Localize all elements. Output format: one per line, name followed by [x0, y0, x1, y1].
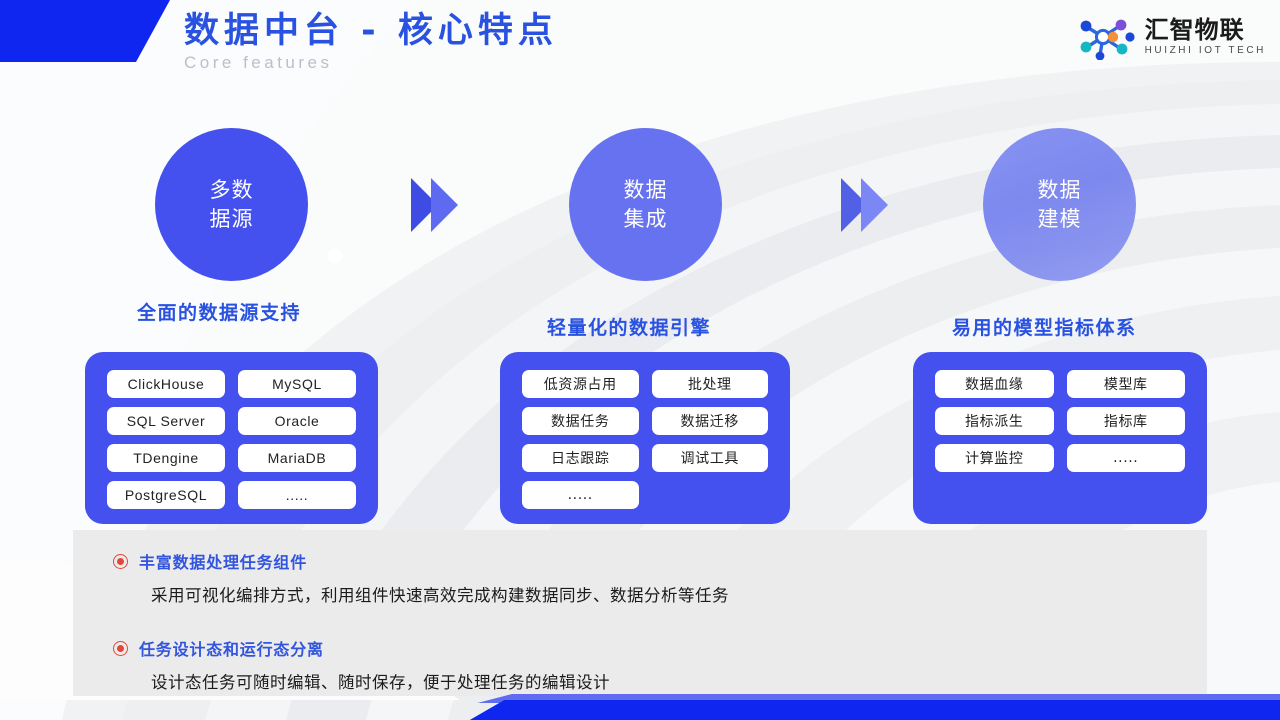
page-title: 数据中台 - 核心特点 Core features: [184, 9, 558, 74]
chip-item[interactable]: TDengine: [107, 444, 225, 472]
page-title-en: Core features: [184, 52, 558, 74]
stage-circle-data-modeling: 数据 建模: [983, 128, 1136, 281]
chip-item[interactable]: MySQL: [238, 370, 356, 398]
stage-label-engine: 轻量化的数据引擎: [547, 313, 711, 340]
stage-circle-line1: 多数: [210, 176, 254, 205]
stage-circle-data-integration: 数据 集成: [569, 128, 722, 281]
chip-item[interactable]: ClickHouse: [107, 370, 225, 398]
chevron-right-icon: [861, 178, 888, 232]
stage-circle-line2: 据源: [210, 205, 254, 234]
note-body: 采用可视化编排方式，利用组件快速高效完成构建数据同步、数据分析等任务: [73, 582, 1207, 606]
chip-item[interactable]: 数据任务: [522, 407, 639, 435]
chip-item[interactable]: 模型库: [1067, 370, 1186, 398]
header-corner-accent: [0, 0, 170, 62]
chip-item[interactable]: 数据血缘: [935, 370, 1054, 398]
chip-item[interactable]: 日志跟踪: [522, 444, 639, 472]
chip-grid: ClickHouse MySQL SQL Server Oracle TDeng…: [107, 370, 356, 509]
note-body: 设计态任务可随时编辑、随时保存，便于处理任务的编辑设计: [73, 669, 1207, 693]
double-chevron-right-icon: [841, 178, 888, 232]
stage-circle-line1: 数据: [1038, 176, 1082, 205]
chip-item[interactable]: 指标库: [1067, 407, 1186, 435]
stage-label-datasource: 全面的数据源支持: [137, 298, 301, 325]
chip-grid: 数据血缘 模型库 指标派生 指标库 计算监控 .....: [935, 370, 1185, 472]
chip-item[interactable]: SQL Server: [107, 407, 225, 435]
stage-circle-line1: 数据: [624, 176, 668, 205]
chip-item[interactable]: PostgreSQL: [107, 481, 225, 509]
stage-label-model: 易用的模型指标体系: [952, 313, 1137, 340]
chevron-right-icon: [431, 178, 458, 232]
chip-item[interactable]: 指标派生: [935, 407, 1054, 435]
chip-panel-model: 数据血缘 模型库 指标派生 指标库 计算监控 .....: [913, 352, 1207, 524]
chip-item[interactable]: Oracle: [238, 407, 356, 435]
stage-circle-line2: 建模: [1038, 205, 1082, 234]
stage-circle-line2: 集成: [624, 205, 668, 234]
chip-item[interactable]: 低资源占用: [522, 370, 639, 398]
chip-item[interactable]: .....: [1067, 444, 1186, 472]
note-item: 丰富数据处理任务组件 采用可视化编排方式，利用组件快速高效完成构建数据同步、数据…: [73, 549, 1207, 606]
chip-item[interactable]: MariaDB: [238, 444, 356, 472]
logo-name-cn: 汇智物联: [1145, 17, 1266, 43]
chip-placeholder: [652, 481, 769, 509]
chip-item[interactable]: 计算监控: [935, 444, 1054, 472]
radio-dot-icon: [113, 641, 128, 656]
note-item: 任务设计态和运行态分离 设计态任务可随时编辑、随时保存，便于处理任务的编辑设计: [73, 636, 1207, 693]
brand-logo: 汇智物联 HUIZHI IOT TECH: [1076, 14, 1266, 60]
chip-item[interactable]: .....: [522, 481, 639, 509]
feature-notes-panel: 丰富数据处理任务组件 采用可视化编排方式，利用组件快速高效完成构建数据同步、数据…: [73, 530, 1207, 696]
stage-circle-multi-datasource: 多数 据源: [155, 128, 308, 281]
note-title: 任务设计态和运行态分离: [139, 636, 324, 660]
chip-item[interactable]: 数据迁移: [652, 407, 769, 435]
chip-item[interactable]: 批处理: [652, 370, 769, 398]
chip-item[interactable]: .....: [238, 481, 356, 509]
chip-panel-datasource: ClickHouse MySQL SQL Server Oracle TDeng…: [85, 352, 378, 524]
chip-panel-engine: 低资源占用 批处理 数据任务 数据迁移 日志跟踪 调试工具 .....: [500, 352, 790, 524]
note-title: 丰富数据处理任务组件: [139, 549, 307, 573]
chip-grid: 低资源占用 批处理 数据任务 数据迁移 日志跟踪 调试工具 .....: [522, 370, 768, 509]
chip-item[interactable]: 调试工具: [652, 444, 769, 472]
decorative-dot: [328, 249, 342, 263]
page-title-cn: 数据中台 - 核心特点: [184, 9, 558, 53]
slide-canvas: 数据中台 - 核心特点 Core features 汇智物联 HUIZHI: [0, 0, 1280, 720]
double-chevron-right-icon: [411, 178, 458, 232]
radio-dot-icon: [113, 554, 128, 569]
logo-name-en: HUIZHI IOT TECH: [1145, 44, 1266, 58]
logo-text-block: 汇智物联 HUIZHI IOT TECH: [1145, 17, 1266, 58]
note-header: 任务设计态和运行态分离: [73, 636, 1207, 660]
molecule-network-icon: [1076, 14, 1138, 60]
note-header: 丰富数据处理任务组件: [73, 549, 1207, 573]
